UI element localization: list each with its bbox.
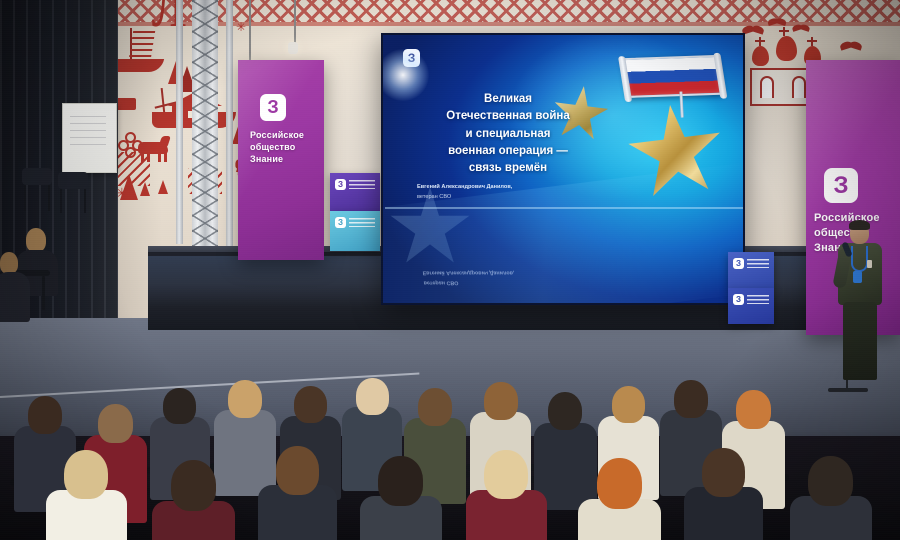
banner-left-line-1: Российское [250, 130, 304, 141]
person-head [28, 396, 62, 434]
lamp-wire [294, 0, 296, 44]
audience-member [46, 450, 127, 540]
znanie-logo-icon: З [260, 94, 286, 121]
chair-back [22, 168, 52, 185]
cube-text-lines [349, 218, 375, 227]
banner-left: З Российское общество Знание [238, 60, 324, 260]
truss-pole [226, 0, 233, 250]
audience-member [466, 450, 547, 540]
lanyard-icon [851, 246, 868, 272]
audience-member [360, 456, 442, 540]
russian-tricolor-ribbon-icon [621, 55, 724, 98]
slide-title-line-4: военная операция — [415, 143, 601, 160]
person-head [418, 388, 452, 426]
person-head [26, 228, 46, 252]
person-head [98, 404, 133, 443]
reflection-line-2: Евгений Александрович Данилов, [422, 267, 623, 277]
slide: З Великая Отечественная война и специаль… [383, 35, 743, 303]
person-head [276, 446, 320, 495]
chair-leg [24, 185, 26, 211]
slide-speaker-role: ветеран СВО [417, 193, 597, 203]
znanie-logo-icon: З [824, 168, 858, 203]
person-head [548, 392, 582, 430]
person-head [378, 456, 423, 506]
slide-title: Великая Отечественная война и специальна… [415, 91, 601, 177]
audience-member [684, 448, 763, 540]
audience-member [578, 458, 661, 540]
person-head [64, 450, 108, 499]
person-head [674, 380, 708, 418]
audience-member [790, 456, 872, 540]
flipchart-board [62, 103, 117, 173]
person-head [484, 450, 528, 499]
person-head [356, 378, 389, 415]
chair-leg [84, 189, 86, 213]
slide-floor-reflection: ветеран СВО Евгений Александрович Данило… [422, 267, 624, 286]
medal-pin-icon [867, 260, 872, 268]
slide-title-line-3: и специальная [415, 126, 601, 143]
audience-member [258, 446, 337, 540]
event-photo-scene: Л ✳ ✳ ✳ [0, 0, 900, 540]
badge-icon [853, 271, 862, 283]
slide-title-line-1: Великая [415, 91, 601, 108]
chair-leg [48, 185, 50, 211]
cube-blue-upper-right: З [728, 252, 774, 288]
cube-text-lines [747, 259, 769, 268]
person-head [612, 386, 645, 423]
znanie-mini-logo-icon: З [335, 179, 346, 190]
cube-purple-upper-left: З [330, 173, 380, 211]
truss-tower [192, 0, 218, 262]
person-head [294, 386, 327, 423]
lamp-wire [249, 0, 251, 62]
cube-text-lines [349, 180, 375, 189]
cube-cyan-lower-left: З [330, 211, 380, 251]
truss-pole [176, 0, 183, 244]
audience-member [152, 460, 235, 540]
banner-left-line-2: общество [250, 142, 295, 153]
reflection-line-1: ветеран СВО [423, 277, 624, 287]
person-head [808, 456, 853, 506]
chair-back [58, 172, 88, 189]
audience [0, 300, 900, 540]
presentation-screen: З Великая Отечественная война и специаль… [381, 33, 745, 305]
gold-star-medal-graphic [605, 50, 736, 176]
person-head [0, 252, 18, 274]
banner-left-line-3: Знание [250, 154, 283, 165]
person-head [228, 380, 262, 418]
slide-speaker-block: Евгений Александрович Данилов, ветеран С… [417, 183, 597, 202]
person-head [484, 382, 518, 420]
znanie-mini-logo-icon: З [335, 217, 346, 228]
slide-title-line-5: связь времён [415, 160, 601, 177]
person-head [597, 458, 643, 509]
chair-leg [60, 189, 62, 213]
person-head [736, 390, 771, 429]
znanie-mini-logo-icon: З [733, 258, 744, 269]
person-head [163, 388, 196, 424]
speaker-hair [849, 220, 870, 230]
person-head [702, 448, 746, 497]
stage-lamp-icon [288, 42, 298, 54]
person-head [171, 460, 217, 511]
slide-title-line-2: Отечественная война [415, 108, 601, 125]
screen-seam [385, 207, 743, 209]
slide-speaker-name: Евгений Александрович Данилов, [417, 183, 597, 193]
